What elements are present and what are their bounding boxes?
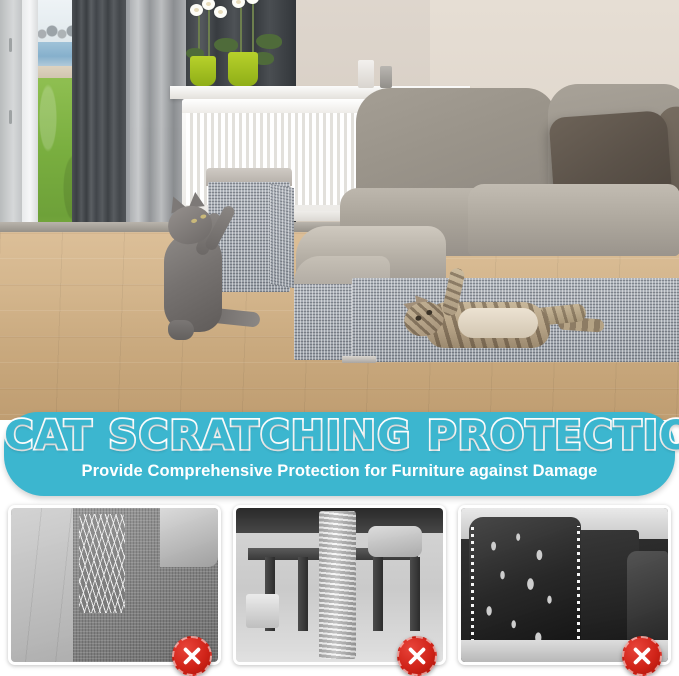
plant-pot-green <box>190 56 216 86</box>
x-circle <box>397 636 437 676</box>
vase-tall <box>358 60 374 88</box>
grey-cat <box>148 198 256 348</box>
stitch-line <box>471 523 474 655</box>
x-badge <box>622 636 662 676</box>
orchid-bloom <box>190 4 203 16</box>
problem-photo-row <box>0 505 679 676</box>
sofa-seat-cushion <box>468 184 679 256</box>
cat-eye <box>426 309 433 316</box>
scratch-mat-side <box>270 184 294 288</box>
leather-sofa-arm <box>469 517 581 659</box>
cat-eye <box>191 218 198 223</box>
orchid-stem <box>240 8 242 54</box>
panel-rope-wrapped-table-leg <box>233 505 446 665</box>
table-leg <box>410 557 420 631</box>
bucket <box>246 594 279 628</box>
cat-belly <box>458 308 538 338</box>
orchid-leaf <box>256 34 282 49</box>
x-mark-icon <box>631 645 653 667</box>
sofa-cushion <box>160 508 218 567</box>
sofa-foot <box>342 356 376 363</box>
sofa-cushion <box>627 551 668 646</box>
table-leg <box>373 557 383 631</box>
cat-eye <box>415 315 422 322</box>
x-mark-icon <box>181 645 203 667</box>
x-badge <box>172 636 212 676</box>
vase-short <box>380 66 392 88</box>
stitch-line <box>577 526 580 652</box>
tabby-cat <box>400 282 610 354</box>
panel-scratched-leather-sofa-arm <box>458 505 671 665</box>
cat-eye <box>200 214 207 219</box>
x-mark-icon <box>406 645 428 667</box>
hero-lifestyle-photo <box>0 0 679 420</box>
orchid-stem <box>252 2 254 54</box>
shredded-fabric-threads <box>79 514 125 613</box>
orchid-stem <box>208 10 210 58</box>
orchid-bloom <box>214 6 227 18</box>
product-image: CAT SCRATCHING PROTECTION Provide Compre… <box>0 0 679 676</box>
orchid-leaf <box>214 38 238 52</box>
table-leg <box>298 557 308 631</box>
x-circle <box>622 636 662 676</box>
banner-subtitle: Provide Comprehensive Protection for Fur… <box>4 462 675 481</box>
banner-title: CAT SCRATCHING PROTECTION <box>4 415 675 457</box>
plant-pot-green <box>228 52 258 86</box>
rope-wrapped-post <box>319 511 356 659</box>
panel-shredded-sofa-corner <box>8 505 221 665</box>
x-circle <box>172 636 212 676</box>
cat-hind-leg <box>168 320 194 340</box>
storage-bag <box>368 526 422 557</box>
x-badge <box>397 636 437 676</box>
headline-banner: CAT SCRATCHING PROTECTION Provide Compre… <box>4 412 675 496</box>
